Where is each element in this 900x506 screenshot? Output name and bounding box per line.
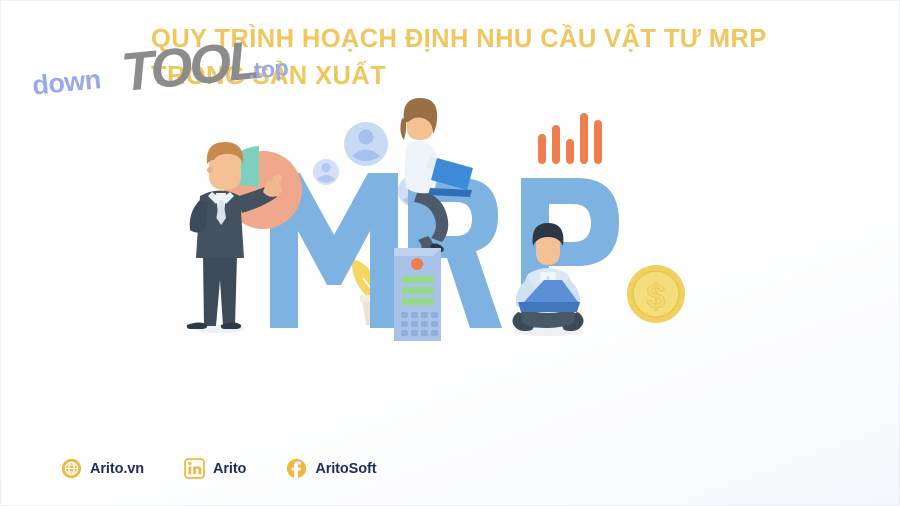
- slide-canvas: QUY TRÌNH HOẠCH ĐỊNH NHU CẦU VẬT TƯ MRP …: [0, 0, 900, 506]
- footer-label-facebook: AritoSoft: [315, 461, 376, 477]
- footer-label-website: Arito.vn: [90, 461, 144, 477]
- footer-item-linkedin[interactable]: Arito: [184, 458, 246, 479]
- title-line-2: TRONG SẢN XUẤT: [151, 58, 811, 95]
- footer-label-linkedin: Arito: [213, 461, 246, 477]
- bar-chart-icon: [538, 113, 602, 164]
- title-line-1: QUY TRÌNH HOẠCH ĐỊNH NHU CẦU VẬT TƯ MRP: [151, 21, 811, 58]
- page-title: QUY TRÌNH HOẠCH ĐỊNH NHU CẦU VẬT TƯ MRP …: [151, 21, 811, 95]
- linkedin-icon: [184, 458, 205, 479]
- svg-text:$: $: [647, 278, 666, 316]
- mrp-illustration: $: [166, 96, 711, 346]
- calculator-device-icon: [394, 248, 441, 341]
- footer-item-facebook[interactable]: AritoSoft: [286, 458, 376, 479]
- footer-item-website[interactable]: Arito.vn: [61, 458, 144, 479]
- globe-icon: [61, 458, 82, 479]
- dollar-coin-icon: $: [627, 265, 685, 323]
- watermark-part-down: down: [31, 64, 102, 101]
- facebook-icon: [286, 458, 307, 479]
- footer-social-bar: Arito.vn Arito AritoSoft: [61, 458, 376, 479]
